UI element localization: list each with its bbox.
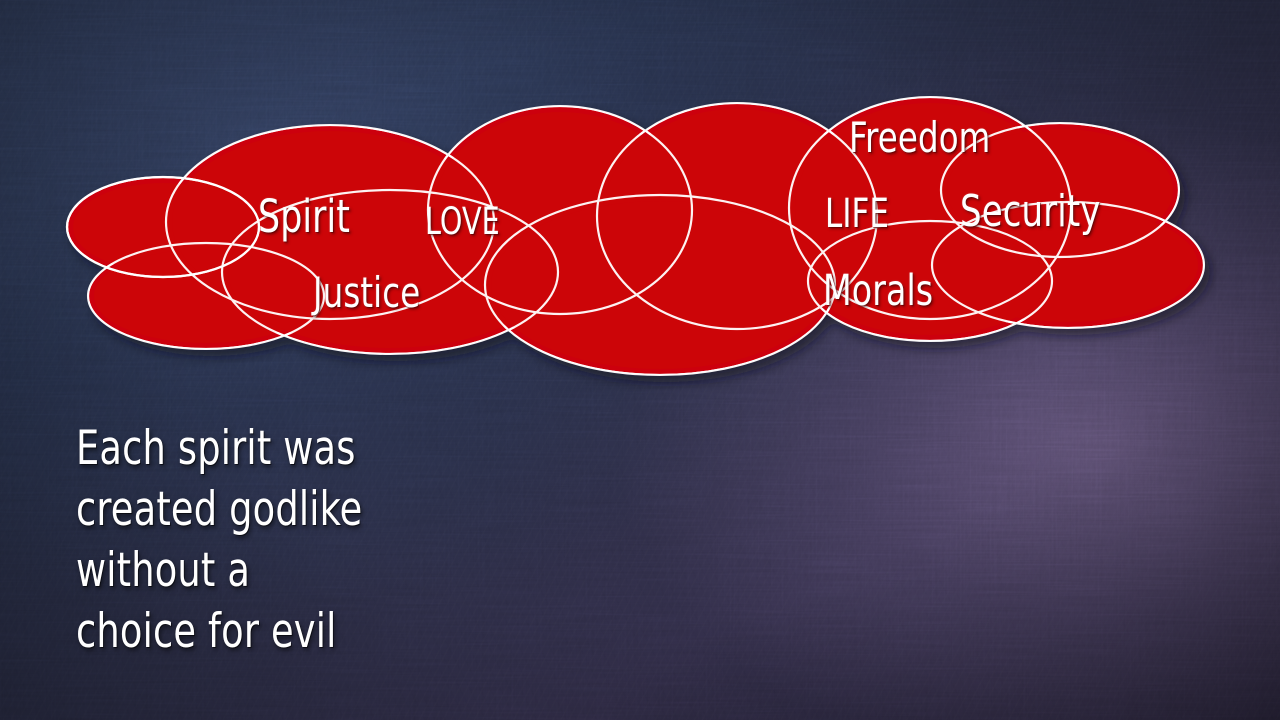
cloud-label-morals: Morals xyxy=(823,270,933,313)
cloud-label-life: LIFE xyxy=(825,194,889,234)
cloud-label-love: LOVE xyxy=(425,203,500,240)
caption-line-2: created godlike xyxy=(76,479,362,540)
caption-line-4: choice for evil xyxy=(76,601,362,662)
caption-line-1: Each spirit was xyxy=(76,418,362,479)
caption-line-3: without a xyxy=(76,540,362,601)
cloud-label-security: Security xyxy=(960,190,1100,234)
cloud-label-freedom: Freedom xyxy=(849,117,990,159)
slide-caption: Each spirit was created godlike without … xyxy=(76,418,362,662)
cloud-label-spirit: Spirit xyxy=(258,194,350,239)
cloud-label-justice: Justice xyxy=(313,272,420,314)
slide-canvas: Spirit LOVE Justice Freedom LIFE Securit… xyxy=(0,0,1280,720)
